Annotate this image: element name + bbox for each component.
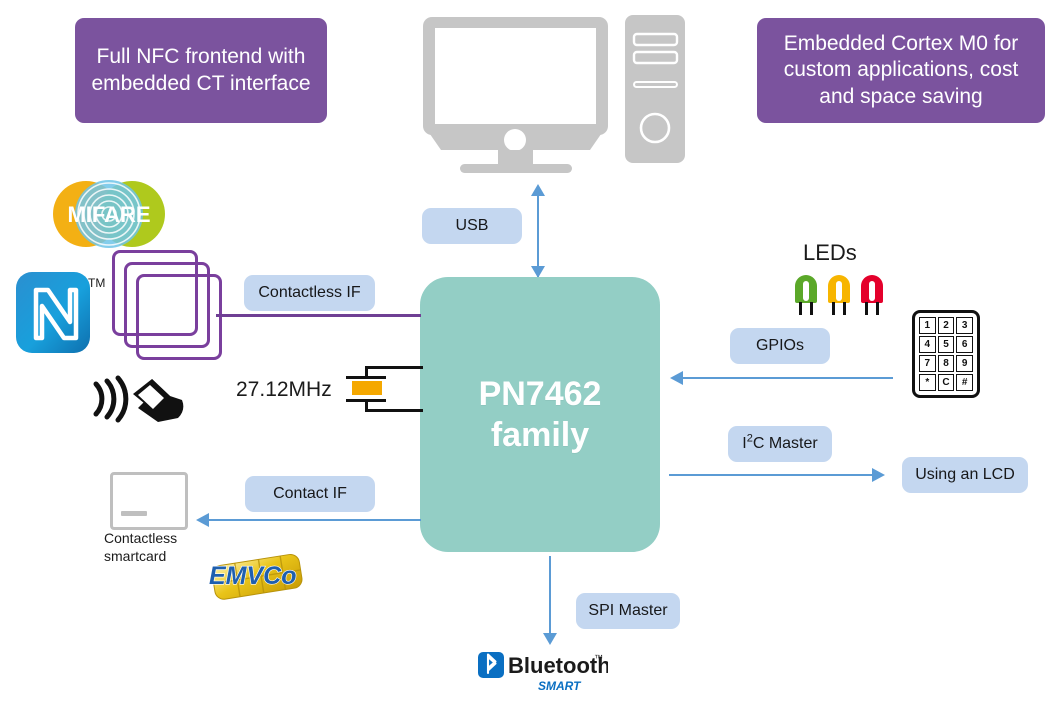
led-amber-leg-right <box>843 302 846 315</box>
led-red-leg-right <box>876 302 879 315</box>
pill-contact-if[interactable]: Contact IF <box>245 476 375 512</box>
emvco-logo: EMVCo <box>197 548 315 602</box>
gpios-line <box>683 377 893 379</box>
pill-gpios-label: GPIOs <box>756 337 804 355</box>
crystal-oscillator: 27.12MHz <box>236 360 426 418</box>
nfc-logo <box>14 270 92 355</box>
callout-left-nfc-frontend: Full NFC frontend with embedded CT inter… <box>75 18 327 123</box>
keypad-key[interactable]: 3 <box>956 317 973 334</box>
led-red <box>861 275 883 313</box>
keypad-key[interactable]: 6 <box>956 336 973 353</box>
mifare-wordmark: MIFARE <box>67 202 150 227</box>
pill-contactless-if-label: Contactless IF <box>258 284 360 302</box>
pill-usb-label: USB <box>456 217 489 235</box>
leds-title-text: LEDs <box>803 240 857 265</box>
callout-right-text: Embedded Cortex M0 for custom applicatio… <box>767 31 1035 109</box>
leds-title: LEDs <box>803 240 857 266</box>
chip-label-line2: family <box>479 415 602 455</box>
pill-spi-master[interactable]: SPI Master <box>576 593 680 629</box>
led-green <box>795 275 817 313</box>
bluetooth-trademark: ™ <box>594 653 603 663</box>
bluetooth-logo-svg: Bluetooth ™ SMART <box>478 652 608 696</box>
i2c-suffix: C Master <box>753 435 818 452</box>
nfc-logo-svg <box>14 270 92 355</box>
pill-using-an-lcd-label: Using an LCD <box>915 466 1015 484</box>
led-red-leg-left <box>865 302 868 315</box>
keypad-key[interactable]: 9 <box>956 355 973 372</box>
pill-using-an-lcd[interactable]: Using an LCD <box>902 457 1028 493</box>
smartcard-strip <box>121 511 147 516</box>
smartcard-icon <box>110 472 188 530</box>
keypad-key[interactable]: # <box>956 374 973 391</box>
bluetooth-wordmark: Bluetooth <box>508 653 608 678</box>
keypad-key[interactable]: 5 <box>938 336 955 353</box>
contactless-hand-icon <box>86 370 186 428</box>
keypad-key[interactable]: 4 <box>919 336 936 353</box>
led-amber-slit <box>836 281 842 301</box>
crystal-symbol-svg <box>341 360 426 418</box>
emvco-wordmark: EMVCo <box>209 562 297 590</box>
computer-svg <box>418 12 688 177</box>
led-green-leg-right <box>810 302 813 315</box>
callout-left-text: Full NFC frontend with embedded CT inter… <box>85 44 317 96</box>
nfc-trademark: TM <box>88 276 105 290</box>
bluetooth-smart-sub: SMART <box>538 679 582 693</box>
contact-if-arrow-left <box>196 513 209 527</box>
callout-right-cortex-m0: Embedded Cortex M0 for custom applicatio… <box>757 18 1045 123</box>
pill-usb[interactable]: USB <box>422 208 522 244</box>
computer-icon <box>418 12 688 177</box>
led-green-slit <box>803 281 809 301</box>
nfc-trademark-text: TM <box>88 276 105 290</box>
emvco-logo-svg: EMVCo <box>197 548 315 602</box>
keypad-key[interactable]: 2 <box>938 317 955 334</box>
smartcard-label-line1: Contactless <box>104 530 214 548</box>
pill-contact-if-label: Contact IF <box>273 485 347 503</box>
chip-pn7462-block[interactable]: PN7462 family <box>420 277 660 552</box>
pill-i2c-master[interactable]: I2C Master <box>728 426 832 462</box>
keypad-icon[interactable]: 1 2 3 4 5 6 7 8 9 * C # <box>912 310 980 398</box>
spi-line <box>549 556 551 636</box>
leds-group <box>795 275 905 330</box>
contactless-connector-line <box>216 314 421 317</box>
pill-i2c-master-label: I2C Master <box>742 435 817 453</box>
keypad-key[interactable]: 1 <box>919 317 936 334</box>
crystal-frequency-label: 27.12MHz <box>236 378 332 402</box>
diagram-canvas: Full NFC frontend with embedded CT inter… <box>0 0 1060 710</box>
pill-spi-master-label: SPI Master <box>588 602 667 620</box>
led-amber <box>828 275 850 313</box>
led-red-slit <box>869 281 875 301</box>
usb-arrow-up <box>531 184 545 196</box>
pill-gpios[interactable]: GPIOs <box>730 328 830 364</box>
led-amber-leg-left <box>832 302 835 315</box>
led-green-leg-left <box>799 302 802 315</box>
pill-contactless-if[interactable]: Contactless IF <box>244 275 375 311</box>
keypad-key[interactable]: C <box>938 374 955 391</box>
chip-label: PN7462 family <box>479 374 602 454</box>
nfc-antenna-coils <box>112 250 227 360</box>
chip-label-line1: PN7462 <box>479 374 602 414</box>
antenna-coil-inner <box>136 274 222 360</box>
contact-if-line <box>208 519 421 521</box>
spi-arrow-down <box>543 633 557 645</box>
gpios-arrow-left <box>670 371 683 385</box>
i2c-line <box>669 474 874 476</box>
keypad-key[interactable]: 8 <box>938 355 955 372</box>
keypad-key[interactable]: 7 <box>919 355 936 372</box>
i2c-arrow-right <box>872 468 885 482</box>
mifare-logo-svg: MIFARE <box>48 178 170 250</box>
mifare-logo: MIFARE <box>48 178 170 250</box>
keypad-key[interactable]: * <box>919 374 936 391</box>
bluetooth-smart-logo: Bluetooth ™ SMART <box>478 652 608 696</box>
contactless-hand-svg <box>86 370 186 428</box>
